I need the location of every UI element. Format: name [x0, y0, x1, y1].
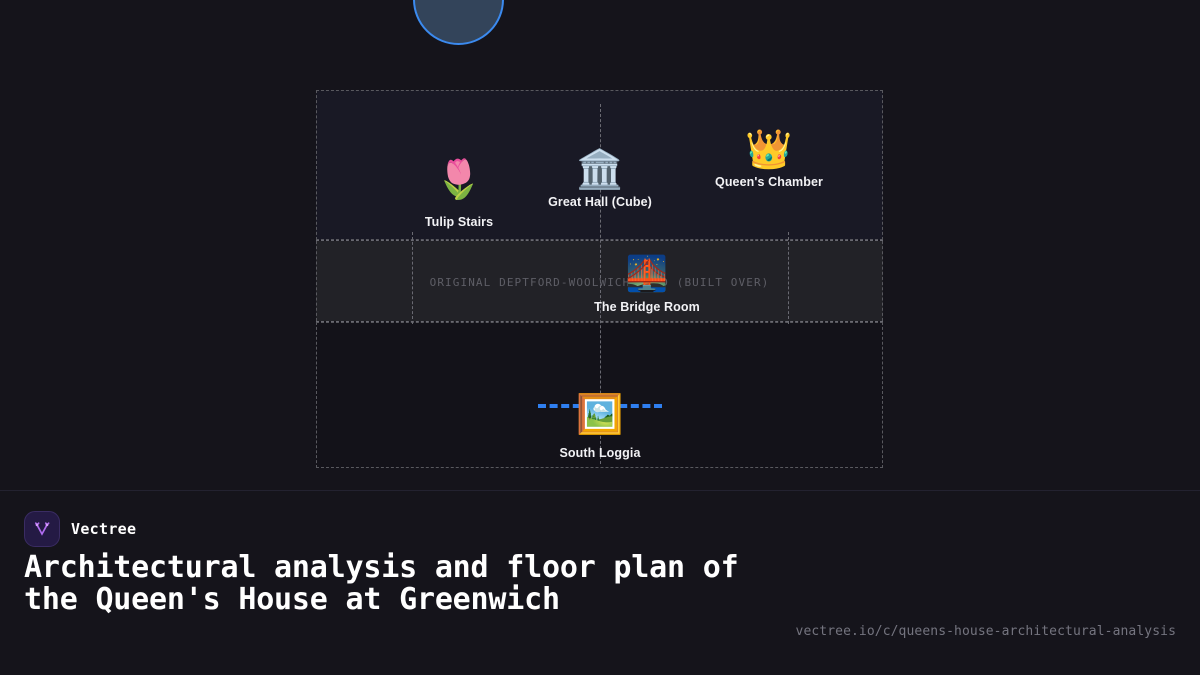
room-node-bridge-room[interactable]: 🌉 The Bridge Room	[547, 252, 747, 314]
room-label-bridge-room: The Bridge Room	[547, 300, 747, 314]
vectree-logo-icon	[24, 511, 60, 547]
room-label-south-loggia: South Loggia	[500, 446, 700, 460]
permalink-url: vectree.io/c/queens-house-architectural-…	[796, 624, 1176, 639]
crown-icon: 👑	[669, 125, 869, 173]
room-node-queens-chamber[interactable]: 👑 Queen's Chamber	[669, 125, 869, 189]
framed-picture-icon: 🖼️	[500, 390, 700, 438]
north-circular-node	[413, 0, 504, 45]
screenshot-root: ORIGINAL DEPTFORD-WOOLWICH ROAD (BUILT O…	[0, 0, 1200, 675]
brand[interactable]: Vectree	[24, 511, 136, 547]
room-label-queens-chamber: Queen's Chamber	[669, 175, 869, 189]
brand-name: Vectree	[71, 520, 136, 538]
room-label-tulip-stairs: Tulip Stairs	[359, 215, 559, 229]
room-label-great-hall: Great Hall (Cube)	[500, 195, 700, 209]
bridge-icon: 🌉	[547, 252, 747, 296]
footer: Vectree Architectural analysis and floor…	[0, 491, 1200, 675]
page-title: Architectural analysis and floor plan of…	[24, 552, 764, 616]
floor-plan-diagram: ORIGINAL DEPTFORD-WOOLWICH ROAD (BUILT O…	[0, 0, 1200, 490]
room-node-south-loggia[interactable]: 🖼️ South Loggia	[500, 390, 700, 460]
